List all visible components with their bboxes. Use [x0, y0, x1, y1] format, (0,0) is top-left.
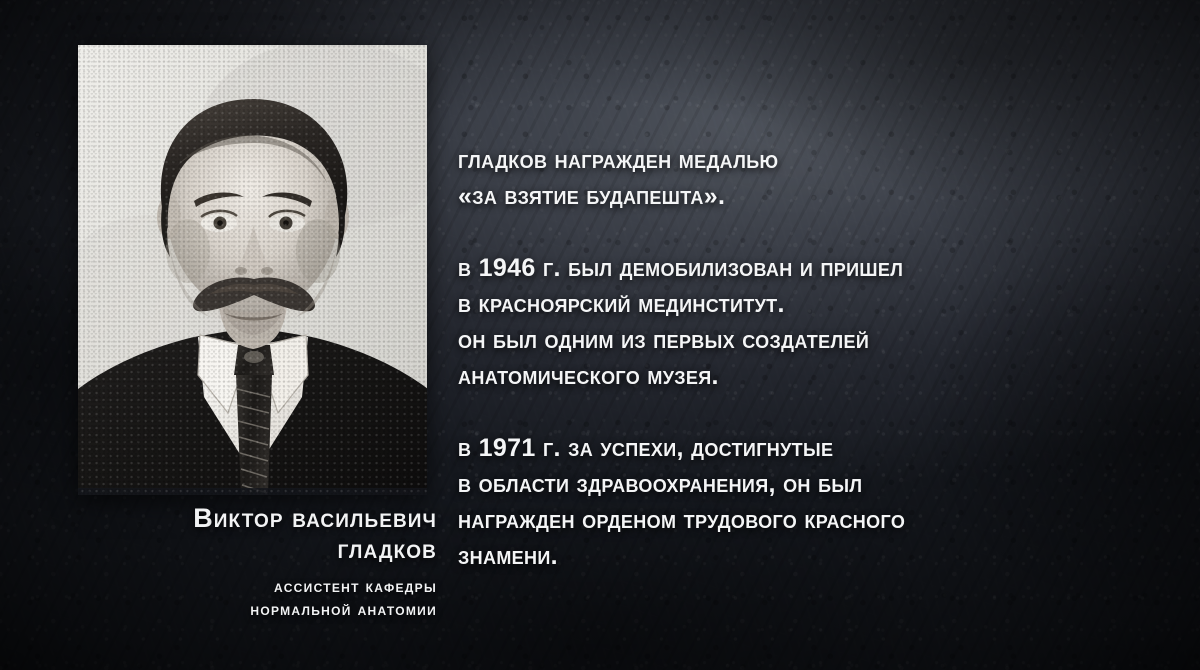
caption-role-line-2: нормальной анатомии	[250, 601, 437, 619]
biography-paragraph-1: Гладков награжден медалью «За взятие Буд…	[458, 142, 1158, 214]
caption-role: ассистент кафедры нормальной анатомии	[40, 576, 437, 622]
portrait-caption: Виктор Васильевич Гладков ассистент кафе…	[40, 503, 437, 622]
caption-role-line-1: ассистент кафедры	[274, 578, 437, 596]
portrait-illustration	[78, 45, 427, 495]
portrait-photo	[78, 45, 427, 495]
biography-paragraph-2: В 1946 г. был демобилизован и пришел в К…	[458, 250, 1158, 394]
caption-name: Виктор Васильевич Гладков	[40, 503, 437, 565]
memorial-slide: Виктор Васильевич Гладков ассистент кафе…	[0, 0, 1200, 670]
biography-text-block: Гладков награжден медалью «За взятие Буд…	[458, 117, 1158, 599]
caption-name-line-1: Виктор Васильевич	[193, 503, 437, 533]
caption-name-line-2: Гладков	[338, 534, 437, 564]
biography-paragraph-3: В 1971 г. за успехи, достигнутые в облас…	[458, 430, 1158, 574]
